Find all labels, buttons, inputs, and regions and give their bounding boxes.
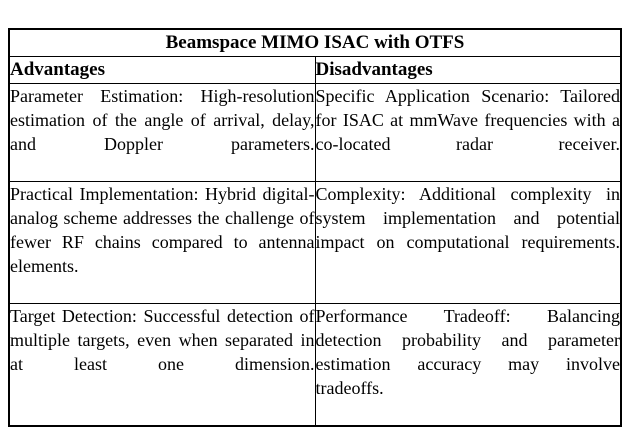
cell-advantages-3: Target Detection: Successful detection o…	[9, 303, 315, 426]
cell-text: Specific Application Scenario: Tailored …	[316, 84, 621, 181]
cell-disadvantages-1: Specific Application Scenario: Tailored …	[315, 84, 621, 182]
cell-text: Parameter Estimation: High-resolution es…	[10, 84, 315, 181]
column-header-disadvantages: Disadvantages	[315, 57, 621, 84]
cell-text: Practical Implementation: Hybrid digital…	[10, 182, 315, 303]
table-row: Parameter Estimation: High-resolution es…	[9, 84, 621, 182]
cell-disadvantages-3: Performance Tradeoff: Balancing detectio…	[315, 303, 621, 426]
table-title-row: Beamspace MIMO ISAC with OTFS	[9, 29, 621, 57]
table-header-row: Advantages Disadvantages	[9, 57, 621, 84]
cell-text: Complexity: Additional complexity in sys…	[316, 182, 621, 279]
column-header-advantages: Advantages	[9, 57, 315, 84]
cell-advantages-1: Parameter Estimation: High-resolution es…	[9, 84, 315, 182]
cell-disadvantages-2: Complexity: Additional complexity in sys…	[315, 181, 621, 303]
comparison-table-container: Beamspace MIMO ISAC with OTFS Advantages…	[8, 28, 622, 427]
cell-text: Performance Tradeoff: Balancing detectio…	[316, 304, 621, 425]
table-row: Practical Implementation: Hybrid digital…	[9, 181, 621, 303]
cell-advantages-2: Practical Implementation: Hybrid digital…	[9, 181, 315, 303]
table-title: Beamspace MIMO ISAC with OTFS	[9, 29, 621, 57]
comparison-table: Beamspace MIMO ISAC with OTFS Advantages…	[8, 28, 622, 427]
table-row: Target Detection: Successful detection o…	[9, 303, 621, 426]
page-root: Beamspace MIMO ISAC with OTFS Advantages…	[0, 0, 630, 410]
cell-text: Target Detection: Successful detection o…	[10, 304, 315, 401]
